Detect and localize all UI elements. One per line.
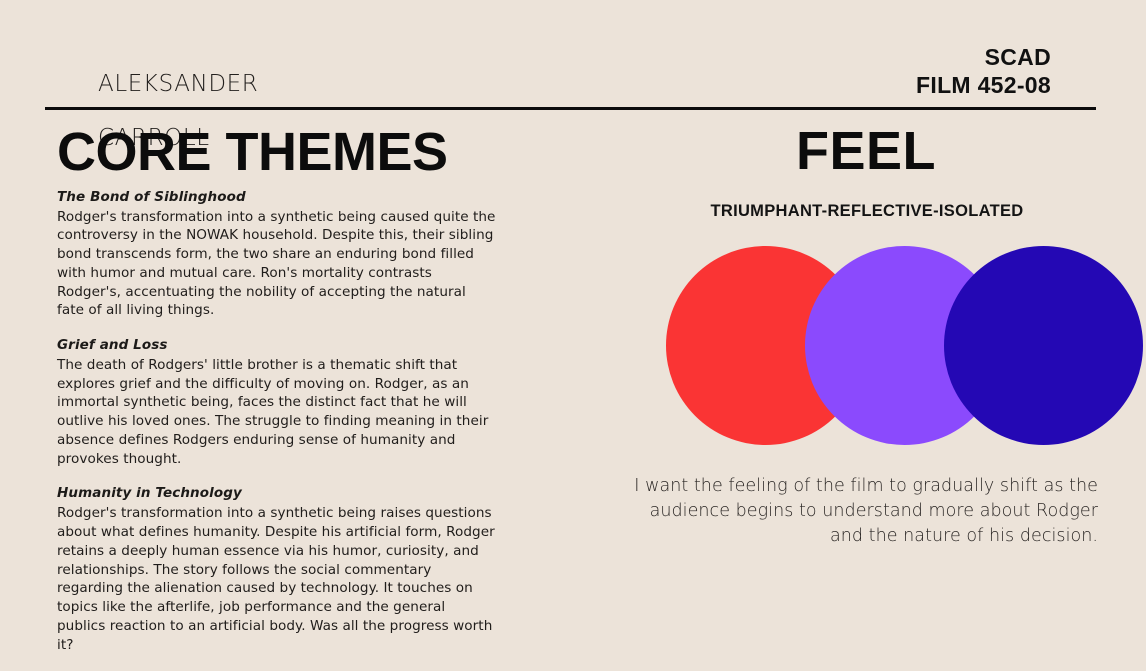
theme-heading: Humanity in Technology [57, 485, 497, 502]
feel-subtitle: TRIUMPHANT-REFLECTIVE-ISOLATED [620, 202, 1120, 221]
feel-caption: I want the feeling of the film to gradua… [626, 474, 1098, 550]
author-first-name: ALEKSANDER [98, 71, 258, 98]
slide-header: ALEKSANDER CARROLL SCAD FILM 452-08 [45, 44, 1096, 104]
theme-heading: Grief and Loss [57, 337, 497, 354]
school-name: SCAD [916, 44, 1051, 72]
theme-block: The Bond of Siblinghood Rodger's transfo… [57, 189, 497, 320]
slide-root: ALEKSANDER CARROLL SCAD FILM 452-08 CORE… [0, 0, 1146, 641]
theme-heading: The Bond of Siblinghood [57, 189, 497, 206]
header-divider [45, 107, 1096, 110]
page-title: CORE THEMES [57, 124, 497, 181]
feel-column: FEEL TRIUMPHANT-REFLECTIVE-ISOLATED [620, 124, 1120, 221]
feel-title: FEEL [620, 124, 1120, 178]
mood-color-diagram [666, 246, 1128, 445]
theme-block: Humanity in Technology Rodger's transfor… [57, 485, 497, 654]
mood-circle-isolated [944, 246, 1143, 445]
course-code: FILM 452-08 [916, 72, 1051, 100]
theme-body: Rodger's transformation into a synthetic… [57, 208, 497, 321]
theme-block: Grief and Loss The death of Rodgers' lit… [57, 337, 497, 468]
theme-body: Rodger's transformation into a synthetic… [57, 504, 497, 654]
course-info: SCAD FILM 452-08 [916, 44, 1096, 99]
theme-body: The death of Rodgers' little brother is … [57, 356, 497, 469]
core-themes-column: CORE THEMES The Bond of Siblinghood Rodg… [57, 124, 497, 671]
